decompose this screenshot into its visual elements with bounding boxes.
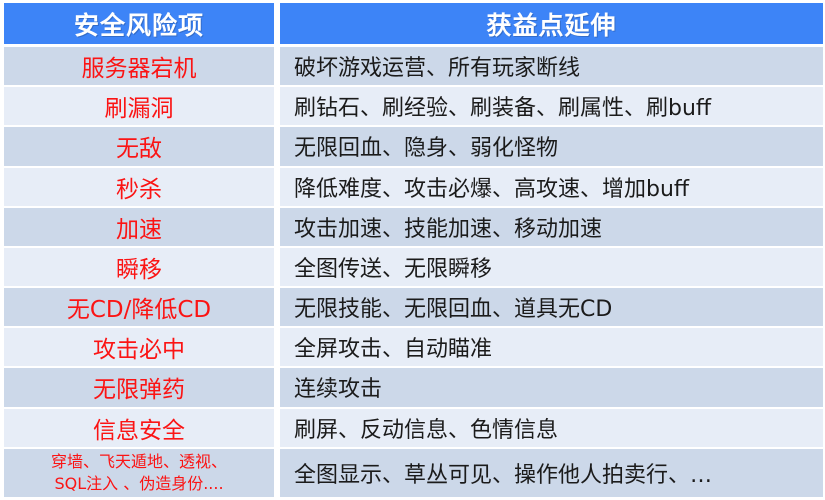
table-row: 刷漏洞 刷钻石、刷经验、刷装备、刷属性、刷buff <box>4 87 823 127</box>
gain-cell: 连续攻击 <box>280 368 823 408</box>
security-risk-table-container: 安全风险项 获益点延伸 服务器宕机 破坏游戏运营、所有玩家断线 刷漏洞 刷钻石、… <box>0 0 825 500</box>
risk-cell: 信息安全 <box>4 409 280 449</box>
risk-cell: 瞬移 <box>4 248 280 288</box>
table-row: 加速 攻击加速、技能加速、移动加速 <box>4 208 823 248</box>
risk-cell: 无敌 <box>4 127 280 167</box>
table-row: 无CD/降低CD 无限技能、无限回血、道具无CD <box>4 288 823 328</box>
column-header-risk: 安全风险项 <box>4 3 280 47</box>
risk-cell: 服务器宕机 <box>4 47 280 87</box>
risk-cell: 加速 <box>4 208 280 248</box>
table-body: 服务器宕机 破坏游戏运营、所有玩家断线 刷漏洞 刷钻石、刷经验、刷装备、刷属性、… <box>4 47 823 497</box>
table-row: 无限弹药 连续攻击 <box>4 368 823 408</box>
gain-cell: 破坏游戏运营、所有玩家断线 <box>280 47 823 87</box>
risk-cell: 无CD/降低CD <box>4 288 280 328</box>
gain-cell: 无限技能、无限回血、道具无CD <box>280 288 823 328</box>
risk-cell-line-2: SQL注入 、伪造身份.... <box>10 473 268 495</box>
gain-cell: 攻击加速、技能加速、移动加速 <box>280 208 823 248</box>
table-header-row: 安全风险项 获益点延伸 <box>4 3 823 47</box>
risk-cell: 刷漏洞 <box>4 87 280 127</box>
risk-cell: 穿墙、飞天遁地、透视、 SQL注入 、伪造身份.... <box>4 449 280 497</box>
table-row: 服务器宕机 破坏游戏运营、所有玩家断线 <box>4 47 823 87</box>
risk-cell: 无限弹药 <box>4 368 280 408</box>
gain-cell: 全屏攻击、自动瞄准 <box>280 328 823 368</box>
table-row: 秒杀 降低难度、攻击必爆、高攻速、增加buff <box>4 168 823 208</box>
table-row: 穿墙、飞天遁地、透视、 SQL注入 、伪造身份.... 全图显示、草丛可见、操作… <box>4 449 823 497</box>
risk-cell: 攻击必中 <box>4 328 280 368</box>
security-risk-table: 安全风险项 获益点延伸 服务器宕机 破坏游戏运营、所有玩家断线 刷漏洞 刷钻石、… <box>4 3 823 497</box>
gain-cell: 降低难度、攻击必爆、高攻速、增加buff <box>280 168 823 208</box>
table-row: 无敌 无限回血、隐身、弱化怪物 <box>4 127 823 167</box>
gain-cell: 全图传送、无限瞬移 <box>280 248 823 288</box>
risk-cell-line-1: 穿墙、飞天遁地、透视、 <box>10 451 268 473</box>
table-row: 攻击必中 全屏攻击、自动瞄准 <box>4 328 823 368</box>
gain-cell: 无限回血、隐身、弱化怪物 <box>280 127 823 167</box>
risk-cell: 秒杀 <box>4 168 280 208</box>
gain-cell: 全图显示、草丛可见、操作他人拍卖行、… <box>280 449 823 497</box>
column-header-gain: 获益点延伸 <box>280 3 823 47</box>
table-row: 信息安全 刷屏、反动信息、色情信息 <box>4 409 823 449</box>
table-header: 安全风险项 获益点延伸 <box>4 3 823 47</box>
table-row: 瞬移 全图传送、无限瞬移 <box>4 248 823 288</box>
gain-cell: 刷钻石、刷经验、刷装备、刷属性、刷buff <box>280 87 823 127</box>
gain-cell: 刷屏、反动信息、色情信息 <box>280 409 823 449</box>
